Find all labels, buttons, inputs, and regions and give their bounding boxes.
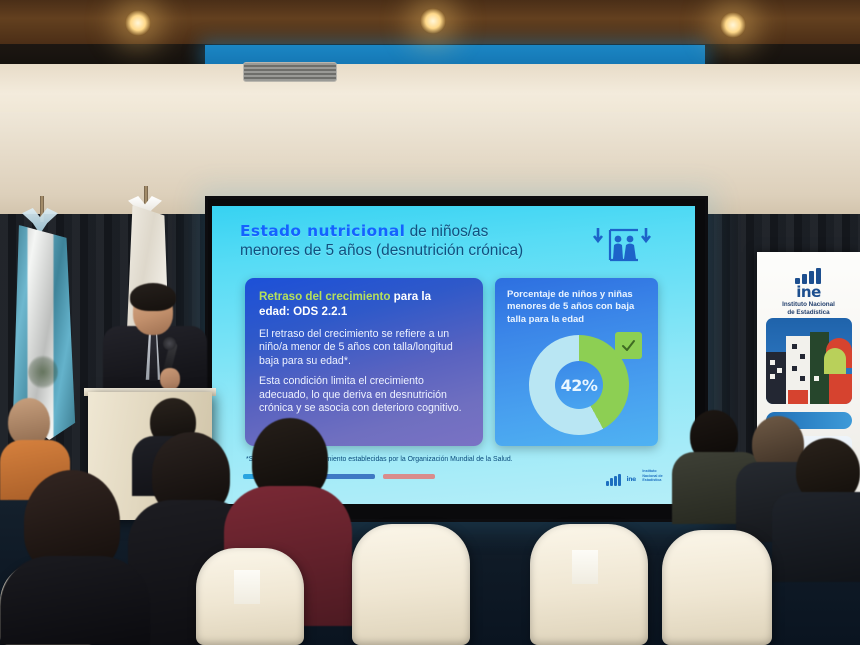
wall-upper (0, 64, 860, 118)
window (800, 376, 805, 381)
slide-logo-sub2: Nacional de (642, 474, 662, 478)
slide-title-rest: de niños/as (405, 223, 488, 240)
ceiling-spotlight (125, 10, 151, 36)
arc-lime (824, 348, 846, 374)
check-mark-icon (615, 332, 642, 359)
guatemala-coat-of-arms (28, 355, 58, 389)
left-card-paragraph-2: Esta condición limita el crecimiento ade… (259, 375, 469, 415)
donut-chart: 42% (503, 336, 651, 440)
slide-logo-sub3: Estadística (642, 478, 661, 482)
building-dark (766, 352, 786, 404)
banner-logo-sub: Instituto Nacional de Estadística (757, 301, 860, 317)
left-card-heading-line2: edad: ODS 2.2.1 (259, 305, 347, 318)
conference-room-photo: Estado nutricional de niños/as menores d… (0, 0, 860, 645)
left-card-heading-rest: para la (390, 290, 431, 303)
audience-chair (662, 530, 772, 645)
chair-name-card (234, 570, 260, 604)
right-chart-card: Porcentaje de niños y niñas menores de 5… (495, 278, 658, 446)
banner-city-illustration (766, 318, 852, 404)
speaker-hair (130, 283, 176, 311)
base-red (788, 390, 808, 404)
left-card-heading-highlight: Retraso del crecimiento (259, 290, 390, 303)
slide-logo-sub1: Instituto (642, 469, 656, 473)
banner-sub1: Instituto Nacional (782, 301, 835, 308)
donut-center: 42% (555, 361, 603, 409)
ceiling-spotlight (420, 8, 446, 34)
banner-sub2: de Estadística (787, 309, 829, 316)
audience-chair (196, 548, 304, 645)
window (770, 360, 775, 365)
right-card-heading: Porcentaje de niños y niñas menores de 5… (507, 289, 646, 326)
window (792, 366, 797, 371)
slide-title-line2: menores de 5 años (desnutrición crónica) (240, 242, 523, 259)
air-vent (243, 62, 337, 82)
slide-title-strong: Estado nutricional (240, 222, 405, 240)
banner-logo-word: ine (757, 285, 860, 299)
building-red (829, 374, 852, 404)
window (792, 344, 797, 349)
slide-logo-word: ine (626, 476, 636, 483)
window (770, 374, 775, 379)
slide-logo-bars-icon (606, 468, 622, 485)
window (777, 368, 782, 373)
chair-name-card (572, 550, 598, 584)
two-children-height-measure-icon (590, 220, 654, 264)
left-card-heading: Retraso del crecimiento para la edad: OD… (259, 290, 469, 319)
window (814, 376, 819, 381)
color-bar-3 (383, 474, 435, 479)
banner-bars-icon (795, 266, 823, 281)
donut-center-label: 42% (561, 376, 598, 395)
left-card-body: El retraso del crecimiento se refiere a … (259, 328, 469, 415)
ceiling-spotlight (720, 12, 746, 38)
slide-ine-logo: ine Instituto Nacional de Estadística (606, 468, 666, 486)
audience-chair (352, 524, 470, 645)
left-card-paragraph-1: El retraso del crecimiento se refiere a … (259, 328, 469, 368)
slide-logo-sub: Instituto Nacional de Estadística (642, 469, 662, 482)
window (800, 354, 805, 359)
banner-logo: ine Instituto Nacional de Estadística (757, 266, 860, 317)
speaker-hand (160, 368, 180, 390)
slide-title: Estado nutricional de niños/as menores d… (240, 222, 600, 260)
audience-chair (530, 524, 648, 645)
microphone-head (163, 337, 176, 350)
